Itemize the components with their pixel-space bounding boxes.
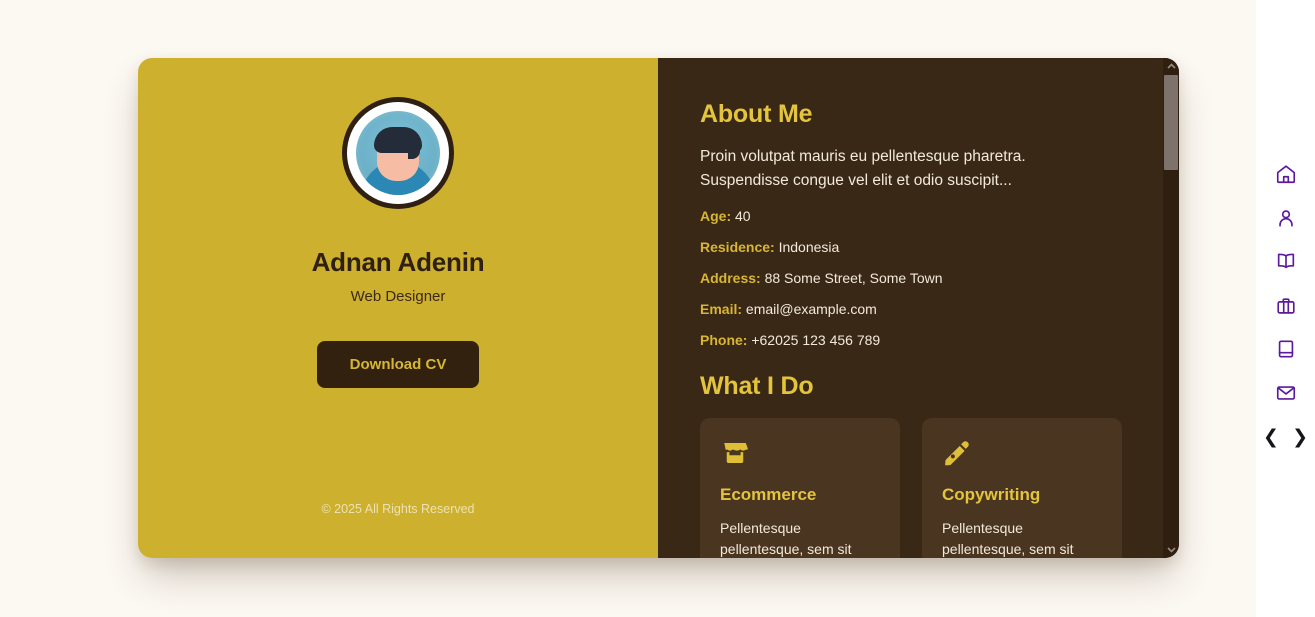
profile-panel: Adnan Adenin Web Designer Download CV © … <box>138 58 658 558</box>
page-root: Adnan Adenin Web Designer Download CV © … <box>0 0 1315 617</box>
download-cv-button[interactable]: Download CV <box>317 341 480 388</box>
chevron-right-icon[interactable]: ❯ <box>1292 428 1308 447</box>
rail-nav-arrows: ❮ ❯ <box>1256 424 1315 450</box>
copyright-text: © 2025 All Rights Reserved <box>138 502 658 516</box>
about-fact-row: Residence: Indonesia <box>700 239 1135 255</box>
about-scroll-content: About Me Proin volutpat mauris eu pellen… <box>658 58 1179 558</box>
home-icon[interactable] <box>1272 160 1300 188</box>
pen-nib-icon <box>942 438 1102 468</box>
about-fact-value: email@example.com <box>746 301 877 317</box>
avatar <box>342 97 454 209</box>
chevron-down-icon[interactable] <box>1163 542 1179 558</box>
about-fact-row: Email: email@example.com <box>700 301 1135 317</box>
about-fact-key: Address: <box>700 270 761 286</box>
open-book-icon[interactable] <box>1272 247 1300 275</box>
service-title: Ecommerce <box>720 485 880 505</box>
chevron-left-icon[interactable]: ❮ <box>1263 428 1279 447</box>
about-scrollbar[interactable] <box>1163 58 1179 558</box>
profile-card: Adnan Adenin Web Designer Download CV © … <box>138 58 1179 558</box>
about-fact-row: Age: 40 <box>700 208 1135 224</box>
service-title: Copywriting <box>942 485 1102 505</box>
about-fact-key: Residence: <box>700 239 775 255</box>
book-icon[interactable] <box>1272 335 1300 363</box>
about-fact-row: Address: 88 Some Street, Some Town <box>700 270 1135 286</box>
about-panel: About Me Proin volutpat mauris eu pellen… <box>658 58 1179 558</box>
storefront-icon <box>720 438 880 468</box>
avatar-hair <box>374 127 422 153</box>
service-description: Pellentesque pellentesque, sem sit amet … <box>720 518 880 558</box>
what-i-do-title: What I Do <box>700 372 1135 401</box>
scrollbar-thumb[interactable] <box>1164 75 1178 170</box>
avatar-photo <box>356 111 440 195</box>
about-facts-list: Age: 40Residence: IndonesiaAddress: 88 S… <box>700 208 1135 348</box>
about-title: About Me <box>700 100 1135 129</box>
about-fact-row: Phone: +62025 123 456 789 <box>700 332 1135 348</box>
about-fact-key: Email: <box>700 301 742 317</box>
service-cards: EcommercePellentesque pellentesque, sem … <box>700 418 1135 558</box>
about-fact-key: Age: <box>700 208 731 224</box>
service-card[interactable]: EcommercePellentesque pellentesque, sem … <box>700 418 900 558</box>
service-description: Pellentesque pellentesque, sem sit amet … <box>942 518 1102 558</box>
profile-name: Adnan Adenin <box>312 247 485 278</box>
about-fact-value: Indonesia <box>779 239 840 255</box>
service-card[interactable]: CopywritingPellentesque pellentesque, se… <box>922 418 1122 558</box>
chevron-up-icon[interactable] <box>1163 58 1179 74</box>
about-fact-value: 40 <box>735 208 751 224</box>
briefcase-icon[interactable] <box>1272 292 1300 320</box>
person-icon[interactable] <box>1272 204 1300 232</box>
about-fact-key: Phone: <box>700 332 747 348</box>
envelope-icon[interactable] <box>1272 379 1300 407</box>
about-bio: Proin volutpat mauris eu pellentesque ph… <box>700 145 1080 193</box>
profile-role: Web Designer <box>351 288 446 305</box>
about-fact-value: +62025 123 456 789 <box>751 332 880 348</box>
side-rail: ❮ ❯ <box>1256 0 1315 617</box>
about-fact-value: 88 Some Street, Some Town <box>765 270 943 286</box>
